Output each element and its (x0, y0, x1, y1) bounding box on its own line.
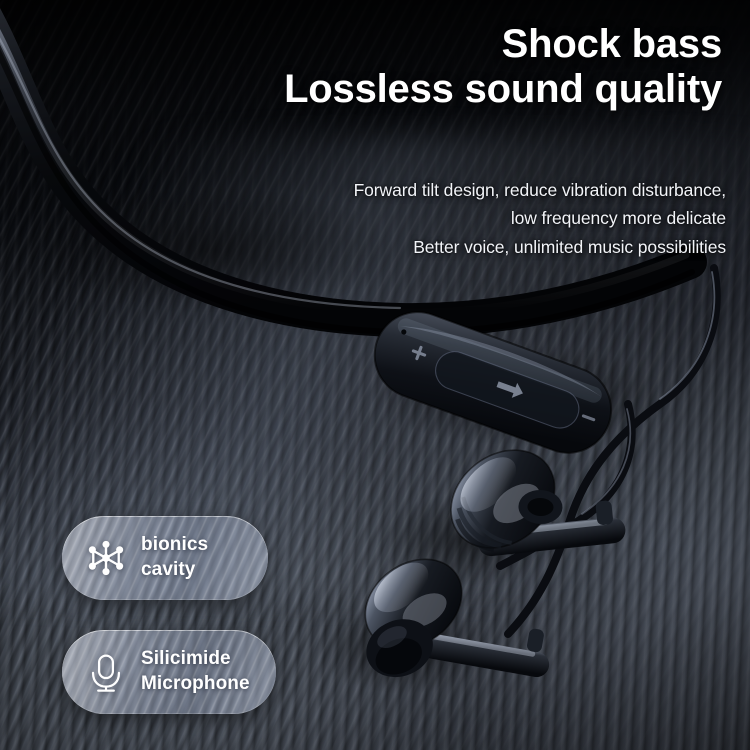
badge-1-line-1: bionics (141, 534, 208, 555)
feature-badges: bionics cavity Silicimide Microphone (62, 516, 276, 714)
badge-1-line-2: cavity (141, 559, 195, 580)
microphone-icon (84, 648, 128, 696)
feature-badge-silicimide-microphone: Silicimide Microphone (62, 630, 276, 714)
product-banner: Shock bass Lossless sound quality Forwar… (0, 0, 750, 750)
feature-badge-label-bionics: bionics cavity (141, 533, 208, 582)
feature-badge-label-microphone: Silicimide Microphone (141, 647, 250, 696)
subhead-line-3: Better voice, unlimited music possibilit… (354, 233, 726, 261)
headline-line-2: Lossless sound quality (284, 67, 722, 112)
headline: Shock bass Lossless sound quality (284, 22, 722, 112)
subhead-line-2: low frequency more delicate (354, 204, 726, 232)
badge-2-line-2: Microphone (141, 673, 250, 694)
molecule-icon (84, 534, 128, 582)
headline-line-1: Shock bass (284, 22, 722, 67)
badge-2-line-1: Silicimide (141, 648, 231, 669)
subhead-line-1: Forward tilt design, reduce vibration di… (354, 176, 726, 204)
subhead: Forward tilt design, reduce vibration di… (354, 176, 726, 261)
feature-badge-bionics-cavity: bionics cavity (62, 516, 268, 600)
